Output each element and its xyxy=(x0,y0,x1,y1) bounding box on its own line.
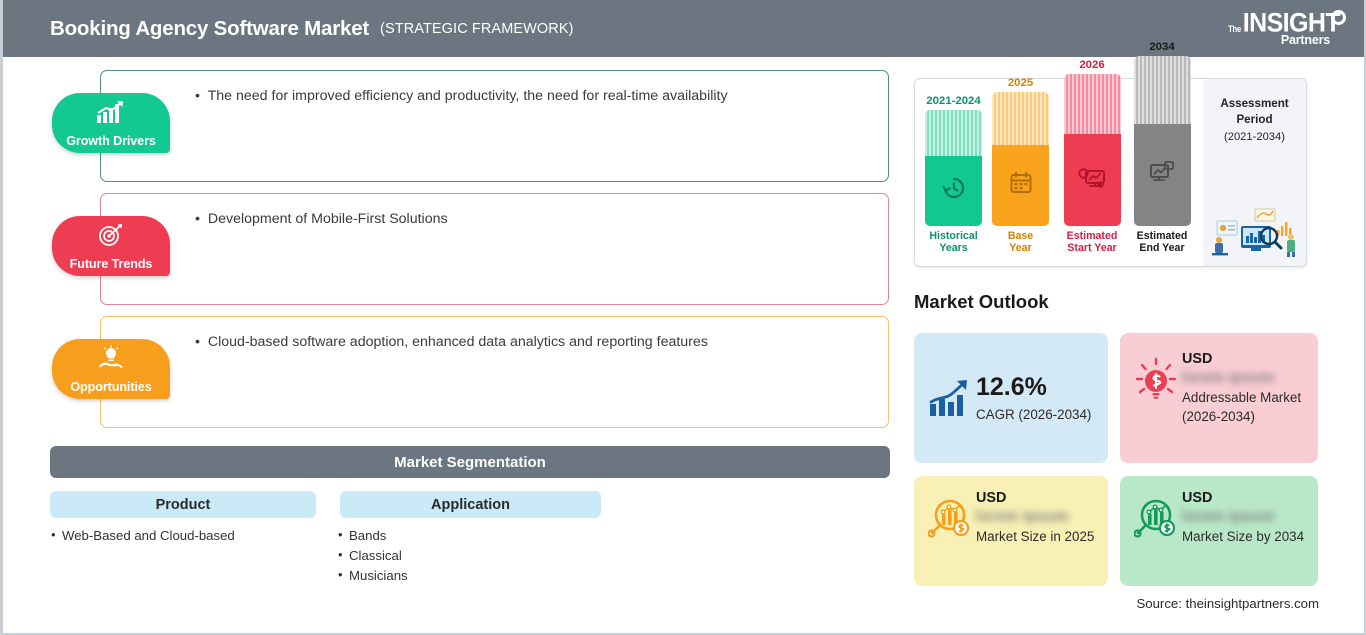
bar-stripe-section xyxy=(1064,74,1121,135)
page-title: Booking Agency Software Market xyxy=(50,17,369,41)
bar-stripe-section xyxy=(1134,56,1191,124)
lightbulb-hand-icon xyxy=(52,345,170,371)
bar-body xyxy=(925,110,982,226)
list-item: Classical xyxy=(338,546,601,566)
assessment-period-panel: 2021-2024 xyxy=(914,78,1307,267)
right-column: 2021-2024 xyxy=(903,57,1366,635)
bar-caption: Base Year xyxy=(992,230,1049,254)
badge-label: Growth Drivers xyxy=(66,134,156,148)
bar-caption-line2: Start Year xyxy=(1067,242,1116,254)
bar-solid-section xyxy=(1064,134,1121,225)
market-segmentation-bar: Market Segmentation xyxy=(50,446,890,478)
bar-year-label: 2026 xyxy=(1059,59,1125,71)
list-item: Musicians xyxy=(338,566,601,586)
bar-caption-line2: Years xyxy=(939,242,967,254)
bar-solid-section xyxy=(925,156,982,226)
card-label: Market Size by 2034 xyxy=(1182,528,1308,547)
logo-the-text: The xyxy=(1228,25,1241,34)
bulb-dollar-icon xyxy=(1130,351,1182,405)
market-segmentation-title: Market Segmentation xyxy=(394,454,546,471)
assessment-bar-estimated-end-year: 2034 xyxy=(1129,41,1195,254)
magnifier-chart-icon xyxy=(1130,490,1182,540)
infographic-page: Booking Agency Software Market (STRATEGI… xyxy=(0,0,1366,635)
outlook-card-addressable-market: USD lorem ipsum Addressable Market (2026… xyxy=(1120,333,1318,463)
segmentation-column-header: Application xyxy=(340,491,601,518)
segmentation-column-product: Product Web-Based and Cloud-based xyxy=(50,491,316,546)
outlook-card-text: 12.6% CAGR (2026-2034) xyxy=(976,375,1098,422)
blurred-value: lorem ipsum xyxy=(1182,508,1308,525)
segmentation-column-header: Product xyxy=(50,491,316,518)
bar-caption-line1: Historical xyxy=(929,230,977,242)
factor-bullet-text: The need for improved efficiency and pro… xyxy=(208,88,728,104)
list-item: Bands xyxy=(338,526,601,546)
badge-label: Future Trends xyxy=(70,257,153,271)
magnifier-chart-icon xyxy=(924,490,976,540)
history-clock-icon xyxy=(941,175,967,206)
bar-stripe-section xyxy=(992,92,1049,146)
bar-caption-line1: Estimated xyxy=(1137,230,1188,242)
bar-caption: Estimated End Year xyxy=(1129,230,1195,254)
blurred-value: lorem ipsum xyxy=(1182,369,1308,386)
outlook-card-text: USD lorem ipsum Market Size by 2034 xyxy=(1182,490,1308,547)
analytics-screen-icon xyxy=(1149,160,1175,189)
bar-caption-line2: Year xyxy=(1009,242,1031,254)
currency-label: USD xyxy=(1182,490,1308,506)
bar-caption-line1: Estimated xyxy=(1067,230,1118,242)
bar-caption-line2: End Year xyxy=(1139,242,1184,254)
insight-partners-logo: The INSIGHT Partners xyxy=(1228,6,1346,50)
bar-body xyxy=(992,92,1049,226)
list-item: Web-Based and Cloud-based xyxy=(51,526,316,546)
currency-label: USD xyxy=(1182,351,1308,367)
bar-caption: Estimated Start Year xyxy=(1059,230,1125,254)
factor-bullet-text: Cloud-based software adoption, enhanced … xyxy=(208,334,708,350)
source-attribution: Source: theinsightpartners.com xyxy=(1136,596,1319,611)
logo-top-row: The INSIGHT xyxy=(1227,10,1346,36)
assessment-range: (2021-2034) xyxy=(1224,131,1285,143)
segmentation-column-title: Application xyxy=(431,497,510,513)
bar-caption-line1: Base xyxy=(1008,230,1033,242)
outlook-card-cagr: 12.6% CAGR (2026-2034) xyxy=(914,333,1108,463)
factor-bullet-text: Development of Mobile-First Solutions xyxy=(208,211,448,227)
bar-caption: Historical Years xyxy=(925,230,982,254)
segmentation-column-title: Product xyxy=(156,497,211,513)
cagr-value: 12.6% xyxy=(976,375,1098,400)
target-dart-icon xyxy=(52,222,170,248)
bar-year-label: 2025 xyxy=(992,77,1049,89)
assessment-bar-historical-years: 2021-2024 xyxy=(925,95,982,254)
dashboard-illustration xyxy=(1207,204,1302,260)
left-column: Growth Drivers • The need for improved e… xyxy=(3,57,903,635)
badge-future-trends[interactable]: Future Trends xyxy=(52,216,170,276)
page-subtitle: (STRATEGIC FRAMEWORK) xyxy=(380,21,574,37)
outlook-card-text: USD lorem ipsum Market Size in 2025 xyxy=(976,490,1098,547)
assessment-bar-base-year: 2025 xyxy=(992,77,1049,254)
forecast-screen-icon xyxy=(1078,166,1106,195)
assessment-title: Assessment Period xyxy=(1220,96,1288,127)
outlook-card-text: USD lorem ipsum Addressable Market (2026… xyxy=(1182,351,1308,426)
card-label: Addressable Market (2026-2034) xyxy=(1182,389,1308,426)
segmentation-item-list: Bands Classical Musicians xyxy=(338,526,601,585)
currency-label: USD xyxy=(976,490,1098,506)
logo-insight-text: INSIGHT xyxy=(1243,10,1340,37)
segmentation-item-list: Web-Based and Cloud-based xyxy=(51,526,316,546)
segmentation-column-application: Application Bands Classical Musicians xyxy=(340,491,601,585)
factor-bullet-list: • Cloud-based software adoption, enhance… xyxy=(195,333,865,352)
assessment-title-line2: Period xyxy=(1236,113,1272,126)
cagr-label: CAGR (2026-2034) xyxy=(976,407,1098,422)
bar-body xyxy=(1064,74,1121,226)
assessment-bars: 2021-2024 xyxy=(915,79,1203,266)
bar-year-label: 2021-2024 xyxy=(925,95,982,107)
bar-solid-section xyxy=(992,145,1049,225)
blurred-value: lorem ipsum xyxy=(976,508,1098,525)
growth-chart-icon xyxy=(52,99,170,125)
bar-year-label: 2034 xyxy=(1129,41,1195,53)
assessment-bar-estimated-start-year: 2026 xyxy=(1059,59,1125,254)
outlook-card-market-size-2025: USD lorem ipsum Market Size in 2025 xyxy=(914,476,1108,586)
bar-stripe-section xyxy=(925,110,982,156)
card-label: Market Size in 2025 xyxy=(976,528,1098,547)
assessment-title-line1: Assessment xyxy=(1220,97,1288,110)
market-outlook-title: Market Outlook xyxy=(914,291,1049,313)
badge-label: Opportunities xyxy=(70,380,151,394)
bar-body xyxy=(1134,56,1191,226)
factor-bullet-list: • Development of Mobile-First Solutions xyxy=(195,210,865,229)
outlook-card-market-size-2034: USD lorem ipsum Market Size by 2034 xyxy=(1120,476,1318,586)
badge-growth-drivers[interactable]: Growth Drivers xyxy=(52,93,170,153)
badge-opportunities[interactable]: Opportunities xyxy=(52,339,170,399)
bar-solid-section xyxy=(1134,124,1191,226)
calendar-icon xyxy=(1009,171,1033,200)
bar-growth-icon xyxy=(924,378,976,418)
factor-bullet-list: • The need for improved efficiency and p… xyxy=(195,87,865,106)
assessment-period-summary: Assessment Period (2021-2034) xyxy=(1203,79,1306,266)
